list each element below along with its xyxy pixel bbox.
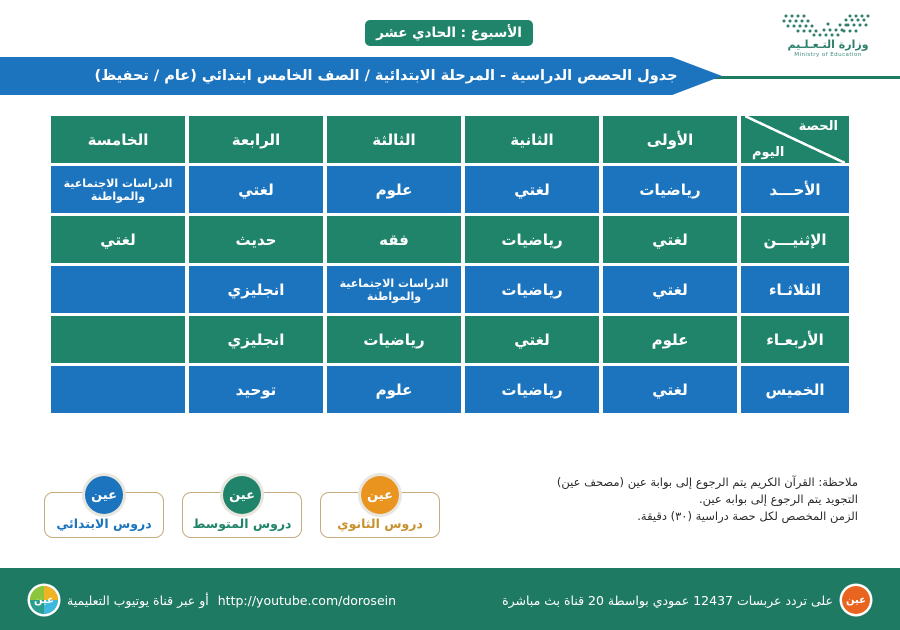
logo-arabic-text: وزارة التـعـلـيم [787, 39, 868, 50]
ein-icon-youtube-label: عين [34, 595, 54, 606]
footer-bar: عين على تردد عربسات 12437 عمودي بواسطة 2… [0, 568, 900, 630]
schedule-table-wrap: الحصة اليوم الأولى الثانية الثالثة الراب… [47, 113, 853, 416]
table-row: الثلاثـاء لغتي رياضيات الدراسات الاجتماع… [51, 266, 849, 313]
cell-tuesday-p3: الدراسات الاجتماعية والمواطنة [327, 266, 461, 313]
badge-secondary[interactable]: عين دروس الثانوي [320, 492, 440, 538]
page-title: جدول الحصص الدراسية - المرحلة الابتدائية… [94, 68, 677, 84]
day-label-wednesday: الأربعـاء [741, 316, 849, 363]
badge-label-elementary: دروس الابتدائي [56, 516, 151, 531]
period-header-2: الثانية [465, 116, 599, 163]
cell-wednesday-p4: انجليزي [189, 316, 323, 363]
day-label-tuesday: الثلاثـاء [741, 266, 849, 313]
cell-tuesday-p4: انجليزي [189, 266, 323, 313]
cell-sunday-p5: الدراسات الاجتماعية والمواطنة [51, 166, 185, 213]
footer-youtube-url[interactable]: http://youtube.com/dorosein [218, 593, 396, 608]
notes-block: ملاحظة: القرآن الكريم يتم الرجوع إلى بوا… [478, 474, 858, 525]
cell-tuesday-p5 [51, 266, 185, 313]
footer-satellite-group: عين على تردد عربسات 12437 عمودي بواسطة 2… [502, 586, 870, 614]
ein-icon-satellite: عين [842, 586, 870, 614]
cell-monday-p2: رياضيات [465, 216, 599, 263]
lesson-portal-badges: عين دروس الابتدائي عين دروس المتوسط عين … [44, 492, 440, 538]
cell-thursday-p1: لغتي [603, 366, 737, 413]
corner-day-label: اليوم [752, 145, 784, 160]
corner-cell: الحصة اليوم [741, 116, 849, 163]
corner-lesson-label: الحصة [799, 119, 838, 134]
ministry-logo: وزارة التـعـلـيم Ministry of Education [768, 12, 888, 72]
badge-intermediate[interactable]: عين دروس المتوسط [182, 492, 302, 538]
cell-sunday-p3: علوم [327, 166, 461, 213]
table-row: الأربعـاء علوم لغتي رياضيات انجليزي [51, 316, 849, 363]
cell-thursday-p3: علوم [327, 366, 461, 413]
period-header-4: الرابعة [189, 116, 323, 163]
ein-icon-youtube: عين [30, 586, 58, 614]
cell-thursday-p4: توحيد [189, 366, 323, 413]
cell-monday-p3: فقه [327, 216, 461, 263]
cell-wednesday-p1: علوم [603, 316, 737, 363]
table-row: الخميس لغتي رياضيات علوم توحيد [51, 366, 849, 413]
cell-wednesday-p5 [51, 316, 185, 363]
table-header-row: الحصة اليوم الأولى الثانية الثالثة الراب… [51, 116, 849, 163]
cell-sunday-p4: لغتي [189, 166, 323, 213]
day-label-thursday: الخميس [741, 366, 849, 413]
note-line-1: ملاحظة: القرآن الكريم يتم الرجوع إلى بوا… [478, 474, 858, 491]
footer-satellite-text: على تردد عربسات 12437 عمودي بواسطة 20 قن… [502, 593, 833, 608]
title-banner: جدول الحصص الدراسية - المرحلة الابتدائية… [0, 57, 722, 95]
cell-monday-p5: لغتي [51, 216, 185, 263]
day-label-monday: الإثنيـــن [741, 216, 849, 263]
note-line-3: الزمن المخصص لكل حصة دراسية (٣٠) دقيقة. [478, 508, 858, 525]
ein-icon-secondary: عين [361, 476, 399, 514]
period-header-3: الثالثة [327, 116, 461, 163]
badge-label-intermediate: دروس المتوسط [193, 516, 292, 531]
period-header-1: الأولى [603, 116, 737, 163]
palm-dots-icon [780, 12, 876, 38]
header-area: الأسبوع : الحادي عشر وزارة التـعـلـيم [0, 0, 900, 100]
cell-tuesday-p1: لغتي [603, 266, 737, 313]
note-line-2: التجويد يتم الرجوع إلى بوابه عين. [478, 491, 858, 508]
cell-wednesday-p2: لغتي [465, 316, 599, 363]
cell-thursday-p5 [51, 366, 185, 413]
ein-icon-satellite-label: عين [846, 595, 866, 606]
cell-wednesday-p3: رياضيات [327, 316, 461, 363]
cell-monday-p1: لغتي [603, 216, 737, 263]
cell-sunday-p2: لغتي [465, 166, 599, 213]
footer-youtube-group: عين أو عبر قناة يوتيوب التعليمية http://… [30, 586, 396, 614]
ein-icon-elementary: عين [85, 476, 123, 514]
badge-elementary[interactable]: عين دروس الابتدائي [44, 492, 164, 538]
cell-thursday-p2: رياضيات [465, 366, 599, 413]
schedule-table: الحصة اليوم الأولى الثانية الثالثة الراب… [47, 113, 853, 416]
cell-tuesday-p2: رياضيات [465, 266, 599, 313]
period-header-5: الخامسة [51, 116, 185, 163]
footer-youtube-text: أو عبر قناة يوتيوب التعليمية [67, 593, 209, 608]
day-label-sunday: الأحـــد [741, 166, 849, 213]
table-row: الإثنيـــن لغتي رياضيات فقه حديث لغتي [51, 216, 849, 263]
table-row: الأحـــد رياضيات لغتي علوم لغتي الدراسات… [51, 166, 849, 213]
ein-icon-intermediate: عين [223, 476, 261, 514]
cell-monday-p4: حديث [189, 216, 323, 263]
cell-sunday-p1: رياضيات [603, 166, 737, 213]
week-badge: الأسبوع : الحادي عشر [365, 20, 533, 46]
badge-label-secondary: دروس الثانوي [337, 516, 423, 531]
logo-english-text: Ministry of Education [794, 52, 861, 59]
